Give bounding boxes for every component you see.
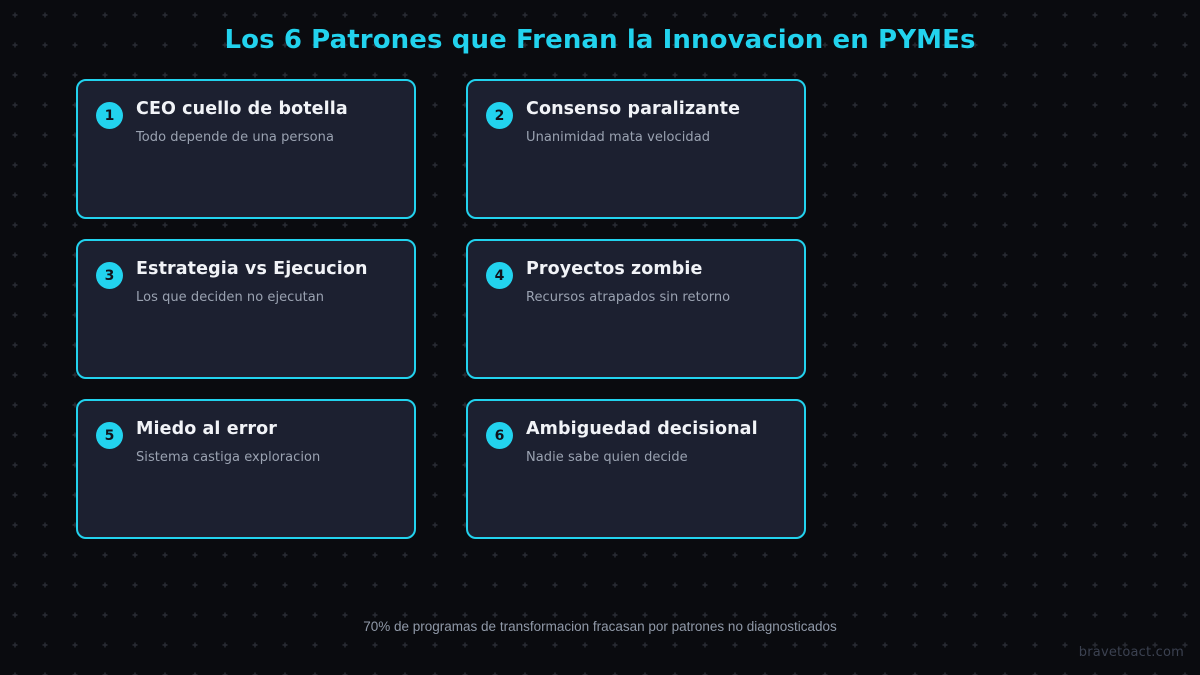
card-number-badge: 6: [486, 422, 513, 449]
card-subtitle: Todo depende de una persona: [136, 130, 394, 147]
card-title: Miedo al error: [136, 419, 394, 440]
card-number-badge: 4: [486, 262, 513, 289]
pattern-card[interactable]: 2 Consenso paralizante Unanimidad mata v…: [466, 79, 806, 219]
pattern-card[interactable]: 3 Estrategia vs Ejecucion Los que decide…: [76, 239, 416, 379]
card-text-block: Miedo al error Sistema castiga exploraci…: [136, 419, 394, 467]
card-subtitle: Sistema castiga exploracion: [136, 450, 394, 467]
card-subtitle: Recursos atrapados sin retorno: [526, 290, 784, 307]
card-text-block: Estrategia vs Ejecucion Los que deciden …: [136, 259, 394, 307]
card-header: 2 Consenso paralizante Unanimidad mata v…: [486, 99, 784, 147]
card-header: 6 Ambiguedad decisional Nadie sabe quien…: [486, 419, 784, 467]
card-text-block: Consenso paralizante Unanimidad mata vel…: [526, 99, 784, 147]
card-title: Ambiguedad decisional: [526, 419, 784, 440]
card-title: Proyectos zombie: [526, 259, 784, 280]
card-subtitle: Nadie sabe quien decide: [526, 450, 784, 467]
card-number-badge: 1: [96, 102, 123, 129]
card-title: Estrategia vs Ejecucion: [136, 259, 394, 280]
card-number-badge: 5: [96, 422, 123, 449]
card-subtitle: Los que deciden no ejecutan: [136, 290, 394, 307]
card-number-badge: 2: [486, 102, 513, 129]
card-header: 1 CEO cuello de botella Todo depende de …: [96, 99, 394, 147]
card-text-block: Ambiguedad decisional Nadie sabe quien d…: [526, 419, 784, 467]
card-header: 5 Miedo al error Sistema castiga explora…: [96, 419, 394, 467]
pattern-card[interactable]: 5 Miedo al error Sistema castiga explora…: [76, 399, 416, 539]
card-text-block: Proyectos zombie Recursos atrapados sin …: [526, 259, 784, 307]
card-header: 3 Estrategia vs Ejecucion Los que decide…: [96, 259, 394, 307]
footer-statistic: 70% de programas de transformacion fraca…: [0, 619, 1200, 634]
card-subtitle: Unanimidad mata velocidad: [526, 130, 784, 147]
pattern-card[interactable]: 4 Proyectos zombie Recursos atrapados si…: [466, 239, 806, 379]
card-number-badge: 3: [96, 262, 123, 289]
card-title: Consenso paralizante: [526, 99, 784, 120]
watermark: bravetoact.com: [1079, 645, 1184, 660]
card-title: CEO cuello de botella: [136, 99, 394, 120]
card-text-block: CEO cuello de botella Todo depende de un…: [136, 99, 394, 147]
card-header: 4 Proyectos zombie Recursos atrapados si…: [486, 259, 784, 307]
pattern-card[interactable]: 6 Ambiguedad decisional Nadie sabe quien…: [466, 399, 806, 539]
page-title: Los 6 Patrones que Frenan la Innovacion …: [0, 25, 1200, 55]
pattern-card[interactable]: 1 CEO cuello de botella Todo depende de …: [76, 79, 416, 219]
